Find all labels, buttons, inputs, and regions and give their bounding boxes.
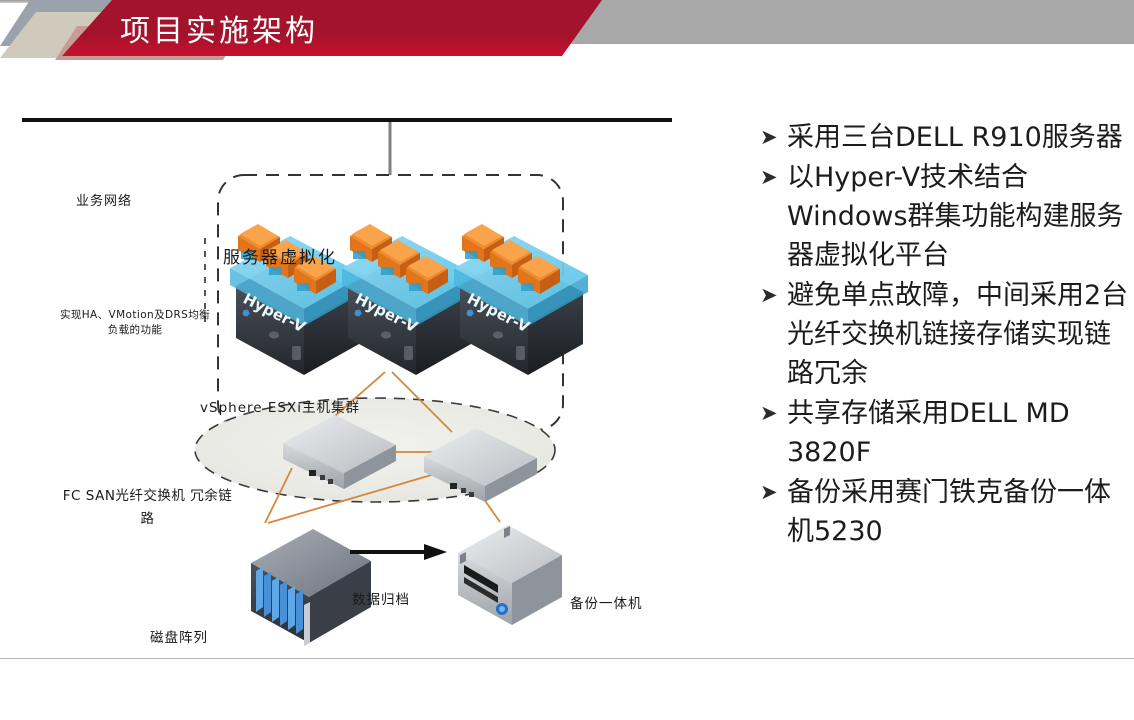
bullet-text: 以Hyper-V技术结合Windows群集功能构建服务器虚拟化平台 xyxy=(787,158,1134,275)
label-backup-appliance: 备份一体机 xyxy=(570,592,643,612)
label-fcsan: FC SAN光纤交换机 冗余链路 xyxy=(60,485,235,531)
chevron-bullet-icon: ➤ xyxy=(760,158,787,197)
bullet-text: 备份采用赛门铁克备份一体机5230 xyxy=(787,473,1134,551)
label-ha-note: 实现HA、VMotion及DRS均衡负载的功能 xyxy=(55,308,215,338)
page-title: 项目实施架构 xyxy=(120,6,318,50)
chevron-bullet-icon: ➤ xyxy=(760,473,787,512)
backup-appliance xyxy=(458,525,562,625)
slide-bottom-rule xyxy=(0,658,1134,659)
list-item: ➤ 避免单点故障，中间采用2台光纤交换机链接存储实现链路冗余 xyxy=(760,276,1134,393)
label-archive: 数据归档 xyxy=(352,588,410,608)
slide-header: 项目实施架构 xyxy=(0,0,1134,60)
architecture-diagram: Hyper-V xyxy=(0,60,750,658)
list-item: ➤ 备份采用赛门铁克备份一体机5230 xyxy=(760,473,1134,551)
label-cluster-caption: vSphere ESXi主机集群 xyxy=(0,396,560,416)
chevron-bullet-icon: ➤ xyxy=(760,276,787,315)
chevron-bullet-icon: ➤ xyxy=(760,118,787,157)
label-disk-array: 磁盘阵列 xyxy=(150,626,208,646)
bullet-list: ➤ 采用三台DELL R910服务器 ➤ 以Hyper-V技术结合Windows… xyxy=(760,118,1134,552)
list-item: ➤ 采用三台DELL R910服务器 xyxy=(760,118,1134,157)
bullet-text: 避免单点故障，中间采用2台光纤交换机链接存储实现链路冗余 xyxy=(787,276,1134,393)
list-item: ➤ 以Hyper-V技术结合Windows群集功能构建服务器虚拟化平台 xyxy=(760,158,1134,275)
label-business-network: 业务网络 xyxy=(76,190,132,209)
label-virtualization-title: 服务器虚拟化 xyxy=(0,243,560,268)
business-network-bar xyxy=(22,118,672,122)
bullet-text: 共享存储采用DELL MD 3820F xyxy=(787,394,1134,472)
bullet-text: 采用三台DELL R910服务器 xyxy=(787,118,1134,157)
list-item: ➤ 共享存储采用DELL MD 3820F xyxy=(760,394,1134,472)
chevron-bullet-icon: ➤ xyxy=(760,394,787,433)
